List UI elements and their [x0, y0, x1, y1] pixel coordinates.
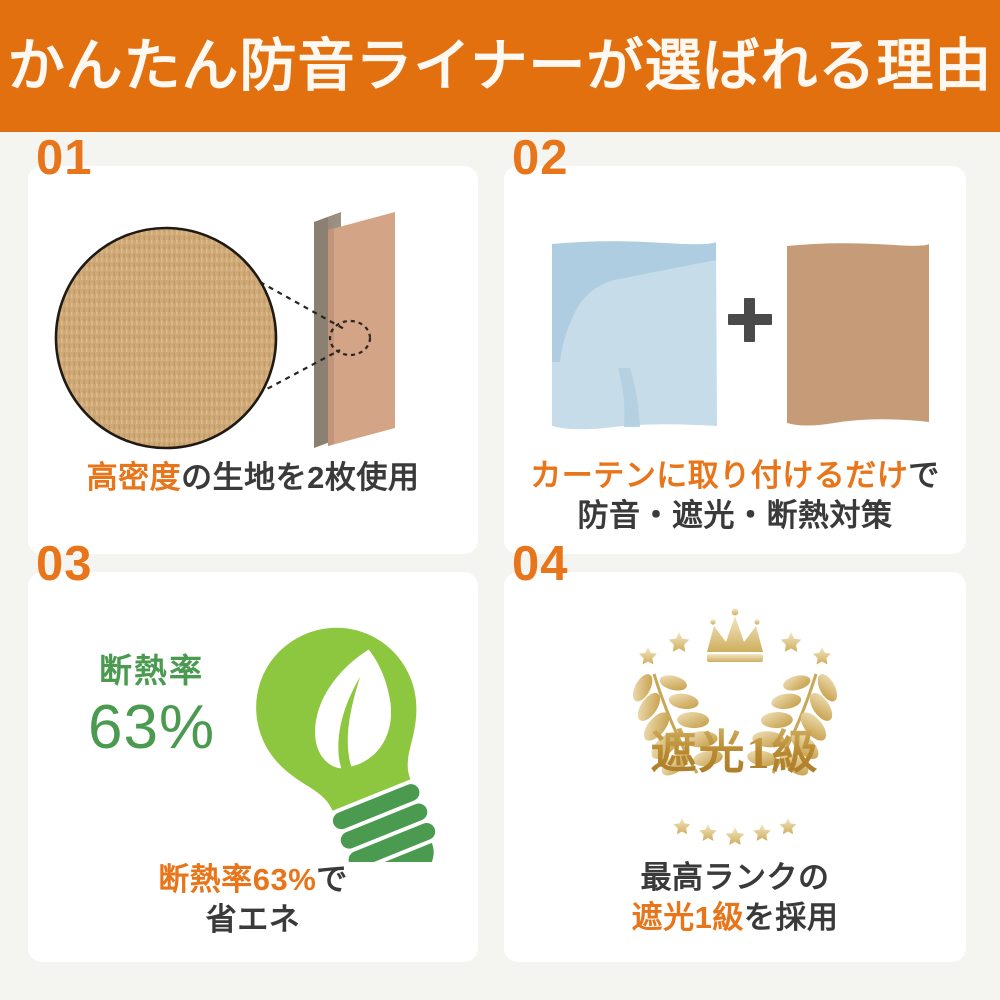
card-caption-01: 高密度の生地を2枚使用	[28, 458, 478, 498]
caption-rest: で	[316, 862, 348, 897]
caption-line-2: 省エネ	[28, 900, 478, 940]
caption-line-2: 防音・遮光・断熱対策	[504, 496, 966, 536]
card-caption-04: 最高ランクの 遮光1級を採用	[504, 858, 966, 937]
fabric-panels-svg	[28, 190, 478, 450]
caption-highlight: 断熱率63%	[158, 862, 316, 897]
front-panel	[328, 212, 395, 446]
fabric-magnifier-circle	[56, 228, 276, 448]
curtain-liner-svg	[504, 236, 966, 436]
infographic-page: かんたん防音ライナーが選ばれる理由 01	[0, 0, 1000, 1000]
card-number-04: 04	[512, 540, 569, 589]
caption-rest: で	[908, 458, 940, 493]
bottom-stars	[674, 818, 797, 845]
caption-highlight: 遮光1級	[632, 900, 744, 935]
badge-label: 遮光1級	[504, 716, 966, 782]
feature-card-01: 01	[28, 166, 478, 554]
card-number-02: 02	[512, 134, 569, 183]
card-caption-03: 断熱率63%で 省エネ	[28, 860, 478, 939]
header-banner: かんたん防音ライナーが選ばれる理由	[0, 0, 1000, 132]
feature-card-04: 04	[504, 572, 966, 962]
card-number-03: 03	[36, 540, 93, 589]
fabric-magnifier-illustration	[28, 190, 478, 450]
lightbulb-illustration: 断熱率 63%	[28, 612, 478, 862]
caption-rest: の生地を2枚使用	[181, 460, 419, 495]
caption-line-2: 遮光1級を採用	[504, 898, 966, 938]
feature-card-03: 03 断熱率 63% 断熱率6	[28, 572, 478, 962]
card-number-01: 01	[36, 134, 93, 183]
page-title: かんたん防音ライナーが選ばれる理由	[8, 38, 993, 95]
laurel-badge-illustration: 遮光1級	[504, 604, 966, 854]
curtain-plus-liner-illustration	[504, 236, 966, 436]
feature-card-02: 02 カーテンに取り付けるだけで 防音・遮光・断熱対策	[504, 166, 966, 554]
caption-line-1: 最高ランクの	[504, 858, 966, 898]
back-panel-face	[314, 217, 328, 448]
caption-rest: を採用	[744, 900, 839, 935]
plus-icon-vertical	[744, 298, 755, 342]
crown-icon	[707, 609, 763, 662]
caption-line-1: 断熱率63%で	[28, 860, 478, 900]
caption-line-1: カーテンに取り付けるだけで	[504, 456, 966, 496]
liner-panel-tan	[787, 243, 929, 425]
green-lightbulb-svg	[28, 612, 478, 862]
card-caption-02: カーテンに取り付けるだけで 防音・遮光・断熱対策	[504, 456, 966, 535]
caption-highlight: 高密度	[87, 460, 182, 495]
caption-highlight: カーテンに取り付けるだけ	[530, 458, 908, 493]
